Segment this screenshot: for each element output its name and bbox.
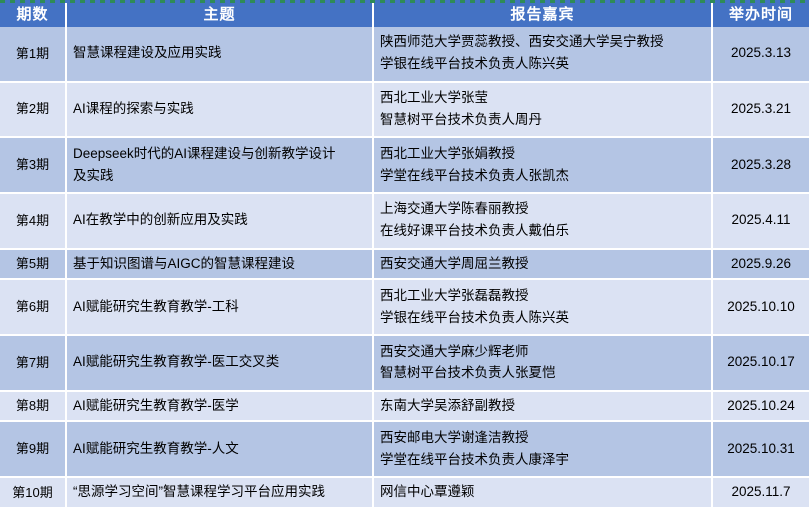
table-row[interactable]: 第5期基于知识图谱与AIGC的智慧课程建设西安交通大学周屈兰教授2025.9.2…	[0, 249, 809, 280]
schedule-table: 期数 主题 报告嘉宾 举办时间 第1期智慧课程建设及应用实践陕西师范大学贾蕊教授…	[0, 0, 809, 509]
cell-session-number[interactable]: 第6期	[0, 279, 66, 335]
cell-date[interactable]: 2025.3.21	[712, 82, 809, 138]
cell-topic[interactable]: AI赋能研究生教育教学-人文	[66, 421, 373, 477]
screenshot-root: 期数 主题 报告嘉宾 举办时间 第1期智慧课程建设及应用实践陕西师范大学贾蕊教授…	[0, 0, 809, 509]
cell-session-number[interactable]: 第7期	[0, 335, 66, 391]
cell-line: 西安邮电大学谢逢洁教授	[380, 428, 705, 449]
cell-topic[interactable]: 智慧课程建设及应用实践	[66, 27, 373, 82]
cell-topic[interactable]: AI赋能研究生教育教学-医工交叉类	[66, 335, 373, 391]
cell-line: AI赋能研究生教育教学-医工交叉类	[73, 352, 366, 373]
cell-guest[interactable]: 东南大学吴添舒副教授	[373, 391, 712, 422]
cell-date[interactable]: 2025.11.7	[712, 477, 809, 508]
cell-line: 西北工业大学张莹	[380, 88, 705, 109]
cell-line: 智慧课程建设及应用实践	[73, 43, 366, 64]
cell-line: 西北工业大学张娟教授	[380, 144, 705, 165]
cell-date[interactable]: 2025.10.17	[712, 335, 809, 391]
table-row[interactable]: 第1期智慧课程建设及应用实践陕西师范大学贾蕊教授、西安交通大学吴宁教授学银在线平…	[0, 27, 809, 82]
cell-session-number[interactable]: 第8期	[0, 391, 66, 422]
cell-line: AI赋能研究生教育教学-人文	[73, 439, 366, 460]
cell-line: 智慧树平台技术负责人周丹	[380, 110, 705, 131]
cell-date[interactable]: 2025.10.24	[712, 391, 809, 422]
cell-guest[interactable]: 西安交通大学麻少辉老师智慧树平台技术负责人张夏恺	[373, 335, 712, 391]
cell-line: 西安交通大学周屈兰教授	[380, 254, 705, 275]
cell-line: 学堂在线平台技术负责人康泽宇	[380, 450, 705, 471]
cell-line: 智慧树平台技术负责人张夏恺	[380, 363, 705, 384]
cell-date[interactable]: 2025.10.10	[712, 279, 809, 335]
cell-guest[interactable]: 西北工业大学张娟教授学堂在线平台技术负责人张凯杰	[373, 137, 712, 193]
table-header: 期数 主题 报告嘉宾 举办时间	[0, 0, 809, 27]
cell-guest[interactable]: 西北工业大学张莹智慧树平台技术负责人周丹	[373, 82, 712, 138]
cell-line: 在线好课平台技术负责人戴伯乐	[380, 221, 705, 242]
cell-topic[interactable]: AI赋能研究生教育教学-工科	[66, 279, 373, 335]
cell-line: 西北工业大学张磊磊教授	[380, 286, 705, 307]
cell-guest[interactable]: 上海交通大学陈春丽教授在线好课平台技术负责人戴伯乐	[373, 193, 712, 249]
column-header-topic[interactable]: 主题	[66, 0, 373, 27]
table-row[interactable]: 第2期AI课程的探索与实践西北工业大学张莹智慧树平台技术负责人周丹2025.3.…	[0, 82, 809, 138]
cell-line: 网信中心覃遵颖	[380, 482, 705, 503]
cell-topic[interactable]: AI在教学中的创新应用及实践	[66, 193, 373, 249]
table-body: 第1期智慧课程建设及应用实践陕西师范大学贾蕊教授、西安交通大学吴宁教授学银在线平…	[0, 27, 809, 508]
cell-session-number[interactable]: 第2期	[0, 82, 66, 138]
cell-line: AI赋能研究生教育教学-工科	[73, 297, 366, 318]
cell-topic[interactable]: AI赋能研究生教育教学-医学	[66, 391, 373, 422]
cell-guest[interactable]: 西安邮电大学谢逢洁教授学堂在线平台技术负责人康泽宇	[373, 421, 712, 477]
table-row[interactable]: 第3期Deepseek时代的AI课程建设与创新教学设计及实践西北工业大学张娟教授…	[0, 137, 809, 193]
cell-line: 陕西师范大学贾蕊教授、西安交通大学吴宁教授	[380, 32, 705, 53]
cell-line: 学银在线平台技术负责人陈兴英	[380, 308, 705, 329]
cell-line: 及实践	[73, 166, 366, 187]
table-row[interactable]: 第4期AI在教学中的创新应用及实践上海交通大学陈春丽教授在线好课平台技术负责人戴…	[0, 193, 809, 249]
cell-session-number[interactable]: 第3期	[0, 137, 66, 193]
cell-session-number[interactable]: 第5期	[0, 249, 66, 280]
cell-session-number[interactable]: 第4期	[0, 193, 66, 249]
cell-topic[interactable]: Deepseek时代的AI课程建设与创新教学设计及实践	[66, 137, 373, 193]
table-row[interactable]: 第8期AI赋能研究生教育教学-医学东南大学吴添舒副教授2025.10.24	[0, 391, 809, 422]
table-header-row: 期数 主题 报告嘉宾 举办时间	[0, 0, 809, 27]
cell-line: AI赋能研究生教育教学-医学	[73, 396, 366, 417]
cell-session-number[interactable]: 第1期	[0, 27, 66, 82]
cell-date[interactable]: 2025.3.13	[712, 27, 809, 82]
cell-line: 西安交通大学麻少辉老师	[380, 342, 705, 363]
column-header-guest[interactable]: 报告嘉宾	[373, 0, 712, 27]
cell-line: AI课程的探索与实践	[73, 99, 366, 120]
table-row[interactable]: 第7期AI赋能研究生教育教学-医工交叉类西安交通大学麻少辉老师智慧树平台技术负责…	[0, 335, 809, 391]
cell-guest[interactable]: 西安交通大学周屈兰教授	[373, 249, 712, 280]
cell-line: Deepseek时代的AI课程建设与创新教学设计	[73, 144, 366, 165]
cell-date[interactable]: 2025.9.26	[712, 249, 809, 280]
cell-guest[interactable]: 陕西师范大学贾蕊教授、西安交通大学吴宁教授学银在线平台技术负责人陈兴英	[373, 27, 712, 82]
cell-guest[interactable]: 网信中心覃遵颖	[373, 477, 712, 508]
cell-date[interactable]: 2025.4.11	[712, 193, 809, 249]
cell-session-number[interactable]: 第10期	[0, 477, 66, 508]
cell-guest[interactable]: 西北工业大学张磊磊教授学银在线平台技术负责人陈兴英	[373, 279, 712, 335]
selection-marquee-border	[0, 0, 809, 3]
cell-topic[interactable]: “思源学习空间”智慧课程学习平台应用实践	[66, 477, 373, 508]
table-row[interactable]: 第6期AI赋能研究生教育教学-工科西北工业大学张磊磊教授学银在线平台技术负责人陈…	[0, 279, 809, 335]
cell-topic[interactable]: 基于知识图谱与AIGC的智慧课程建设	[66, 249, 373, 280]
table-row[interactable]: 第10期“思源学习空间”智慧课程学习平台应用实践网信中心覃遵颖2025.11.7	[0, 477, 809, 508]
cell-line: 基于知识图谱与AIGC的智慧课程建设	[73, 254, 366, 275]
column-header-date[interactable]: 举办时间	[712, 0, 809, 27]
cell-session-number[interactable]: 第9期	[0, 421, 66, 477]
cell-line: 东南大学吴添舒副教授	[380, 396, 705, 417]
cell-line: 学堂在线平台技术负责人张凯杰	[380, 166, 705, 187]
cell-date[interactable]: 2025.10.31	[712, 421, 809, 477]
cell-line: 学银在线平台技术负责人陈兴英	[380, 54, 705, 75]
cell-line: AI在教学中的创新应用及实践	[73, 210, 366, 231]
table-row[interactable]: 第9期AI赋能研究生教育教学-人文西安邮电大学谢逢洁教授学堂在线平台技术负责人康…	[0, 421, 809, 477]
cell-line: 上海交通大学陈春丽教授	[380, 199, 705, 220]
cell-topic[interactable]: AI课程的探索与实践	[66, 82, 373, 138]
cell-date[interactable]: 2025.3.28	[712, 137, 809, 193]
cell-line: “思源学习空间”智慧课程学习平台应用实践	[73, 482, 366, 503]
column-header-num[interactable]: 期数	[0, 0, 66, 27]
